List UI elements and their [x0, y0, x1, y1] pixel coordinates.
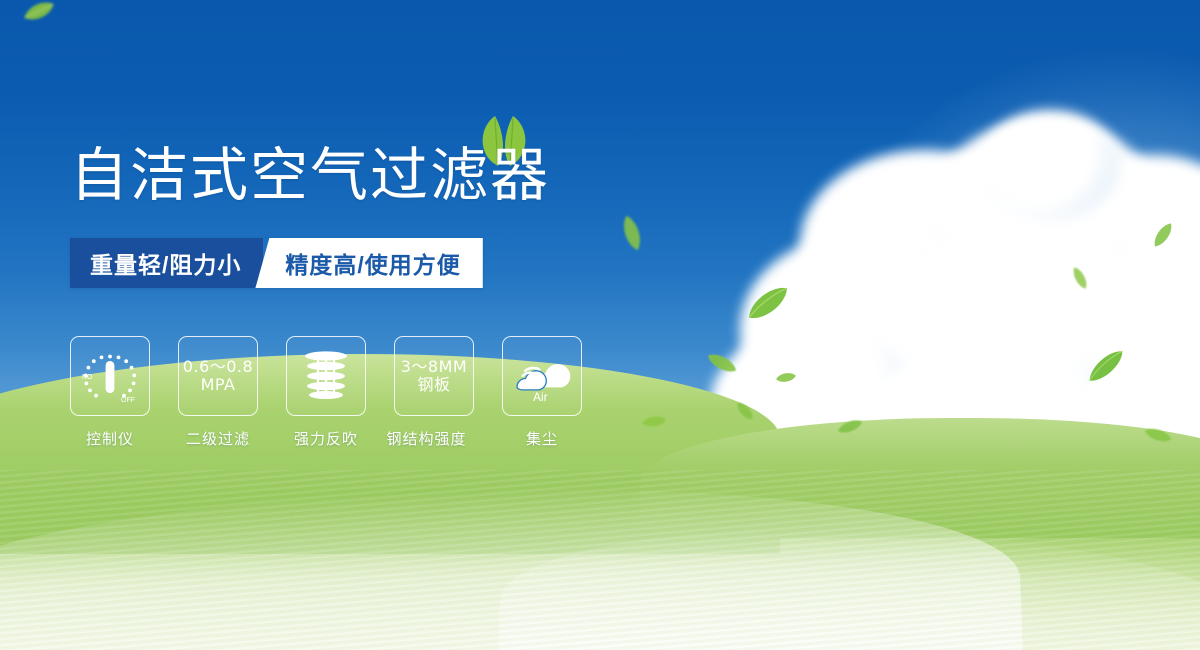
feature-label: 集尘: [526, 428, 558, 449]
subtitle-bar: 重量轻/阻力小 精度高/使用方便: [70, 238, 483, 288]
feature-list: NO OFF 控制仪 0.6～0.8 MPA 二级过滤: [70, 336, 582, 449]
air-label: Air: [533, 390, 548, 404]
feature-icon-box: [286, 336, 366, 416]
feature-icon-box: Air: [502, 336, 582, 416]
feature-label: 二级过滤: [186, 428, 250, 449]
feature-item[interactable]: 强力反吹: [286, 336, 366, 449]
feature-label: 强力反吹: [294, 428, 358, 449]
filter-cartridge-icon: [297, 347, 355, 405]
feature-text-line1: 0.6～0.8: [183, 357, 253, 376]
feature-icon-box: 0.6～0.8 MPA: [178, 336, 258, 416]
feature-icon-box: 3～8MM 钢板: [394, 336, 474, 416]
feature-icon-box: NO OFF: [70, 336, 150, 416]
gauge-dial-icon: NO OFF: [77, 346, 143, 406]
feature-item[interactable]: 3～8MM 钢板 钢结构强度: [394, 336, 474, 449]
subtitle-left-tag: 重量轻/阻力小: [70, 238, 263, 288]
subtitle-right-tag: 精度高/使用方便: [255, 238, 482, 288]
dial-off-label: OFF: [121, 397, 135, 404]
feature-item[interactable]: 0.6～0.8 MPA 二级过滤: [178, 336, 258, 449]
steel-plate-text-icon: 3～8MM 钢板: [401, 358, 467, 394]
banner-content: 自洁式空气过滤器 重量轻/阻力小 精度高/使用方便: [0, 0, 1200, 650]
air-cloud-icon: Air: [511, 348, 573, 404]
feature-text-line1: 3～8MM: [401, 357, 467, 376]
feature-label: 控制仪: [86, 428, 134, 449]
feature-item[interactable]: NO OFF 控制仪: [70, 336, 150, 449]
dial-on-label: NO: [82, 374, 93, 381]
feature-text-line2: MPA: [183, 376, 253, 394]
feature-item[interactable]: Air 集尘: [502, 336, 582, 449]
hero-banner: 自洁式空气过滤器 重量轻/阻力小 精度高/使用方便: [0, 0, 1200, 650]
pressure-text-icon: 0.6～0.8 MPA: [183, 358, 253, 394]
page-title: 自洁式空气过滤器: [70, 146, 550, 204]
feature-text-line2: 钢板: [401, 376, 467, 394]
feature-label: 钢结构强度: [372, 428, 482, 449]
